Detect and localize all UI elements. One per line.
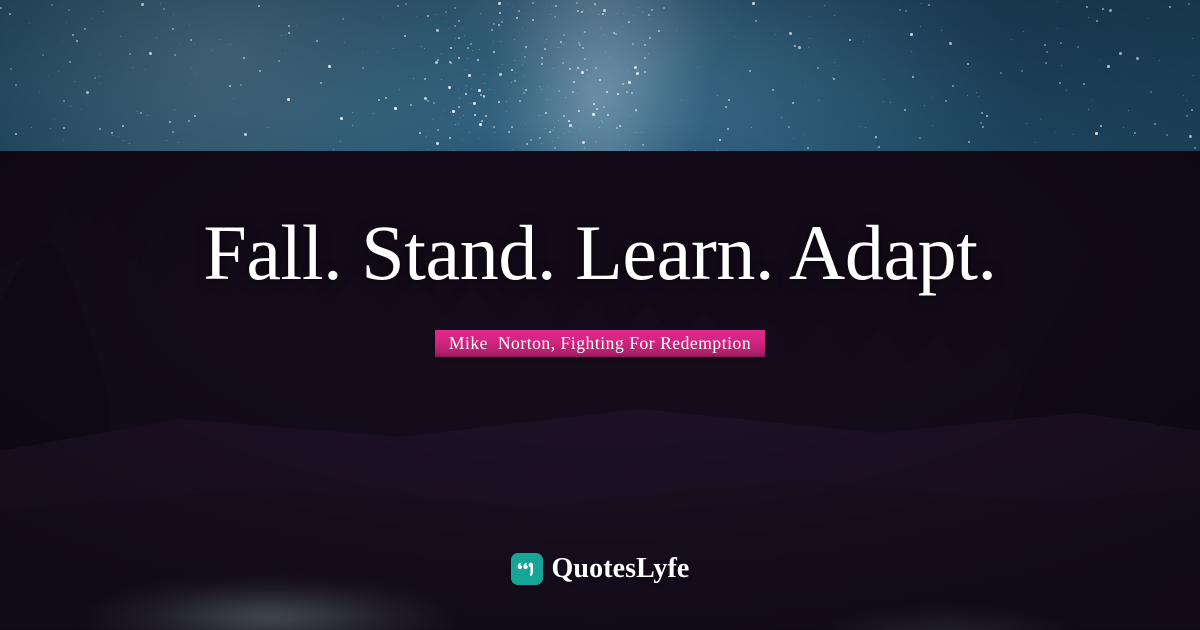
brand-logo[interactable]: QuotesLyfe: [0, 553, 1200, 585]
quote-card: Fall. Stand. Learn. Adapt. Mike Norton, …: [0, 0, 1200, 630]
card-content: Fall. Stand. Learn. Adapt. Mike Norton, …: [0, 0, 1200, 630]
quote-text: Fall. Stand. Learn. Adapt.: [0, 212, 1200, 295]
quote-marks-icon: [511, 553, 543, 585]
author-attribution: Mike Norton, Fighting For Redemption: [0, 330, 1200, 357]
brand-name: QuotesLyfe: [552, 554, 690, 584]
author-badge: Mike Norton, Fighting For Redemption: [435, 330, 765, 357]
